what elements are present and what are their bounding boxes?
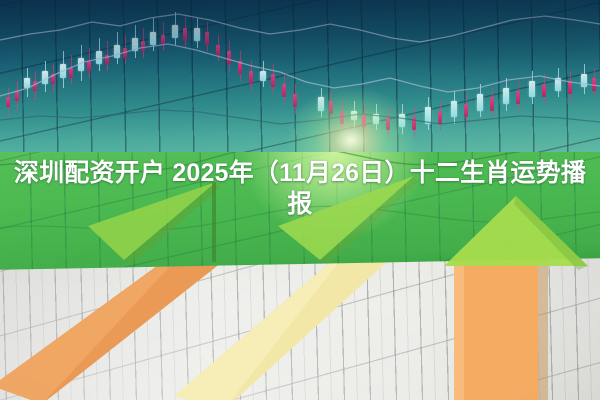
banner-image: 深圳配资开户 2025年（11月26日）十二生肖运势播报 (0, 0, 600, 400)
center-glow (286, 86, 416, 152)
candlestick-chart (0, 0, 600, 152)
page-title: 深圳配资开户 2025年（11月26日）十二生肖运势播报 (0, 158, 600, 220)
